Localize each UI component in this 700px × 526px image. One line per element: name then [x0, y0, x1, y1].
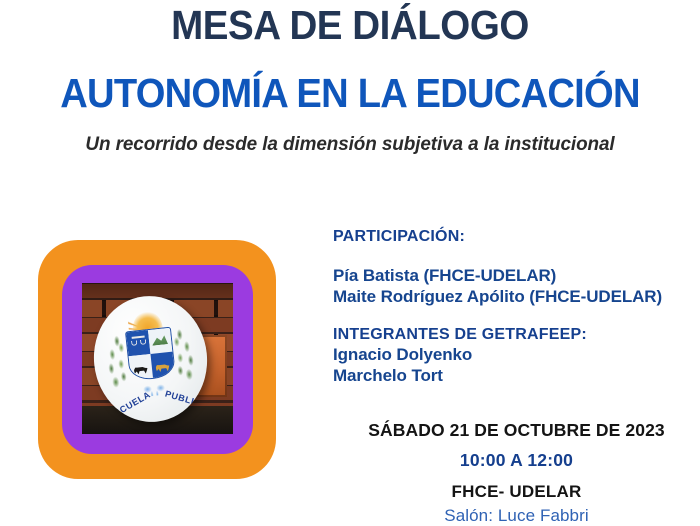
quadrant-bull — [150, 352, 174, 378]
spacer-members — [333, 308, 700, 326]
member-name-1: Ignacio Dolyenko — [333, 344, 700, 365]
participant-name-2: Maite Rodríguez Apólito (FHCE-UDELAR) — [333, 286, 700, 307]
members-heading: INTEGRANTES DE GETRAFEEP: — [333, 326, 700, 344]
quadrant-horse — [128, 354, 152, 380]
sign-text-left: ESCUELA — [106, 389, 152, 421]
participation-heading: PARTICIPACIÓN: — [333, 228, 700, 246]
event-time: 10:00 A 12:00 — [333, 450, 700, 471]
uruguay-coat-of-arms-icon — [124, 327, 175, 382]
scales-of-justice-icon — [131, 336, 145, 349]
page-title-line-2: AUTONOMÍA EN LA EDUCACIÓN — [25, 72, 676, 115]
event-date: SÁBADO 21 DE OCTUBRE DE 2023 — [333, 420, 700, 441]
bull-icon — [155, 362, 170, 372]
image-frame-outer: ESCUELA PUBLICA — [38, 240, 276, 479]
event-details-block: SÁBADO 21 DE OCTUBRE DE 2023 10:00 A 12:… — [333, 420, 700, 526]
participant-name-1: Pía Batista (FHCE-UDELAR) — [333, 265, 700, 286]
cerro-hill-icon — [151, 334, 168, 346]
details-column: PARTICIPACIÓN: Pía Batista (FHCE-UDELAR)… — [333, 228, 700, 386]
member-name-2: Marchelo Tort — [333, 365, 700, 386]
page-subtitle: Un recorrido desde la dimensión subjetiv… — [11, 133, 690, 156]
escuela-publica-photo: ESCUELA PUBLICA — [82, 283, 233, 434]
horse-icon — [133, 364, 148, 374]
poster-canvas: MESA DE DIÁLOGO AUTONOMÍA EN LA EDUCACIÓ… — [0, 0, 700, 525]
spacer-participation — [333, 246, 700, 265]
page-title-line-1: MESA DE DIÁLOGO — [21, 4, 679, 47]
quadrant-scales — [126, 330, 150, 356]
event-room: Salón: Luce Fabbri — [333, 506, 700, 526]
image-frame-inner: ESCUELA PUBLICA — [62, 265, 253, 454]
event-venue: FHCE- UDELAR — [333, 482, 700, 502]
quadrant-hill — [147, 328, 171, 354]
